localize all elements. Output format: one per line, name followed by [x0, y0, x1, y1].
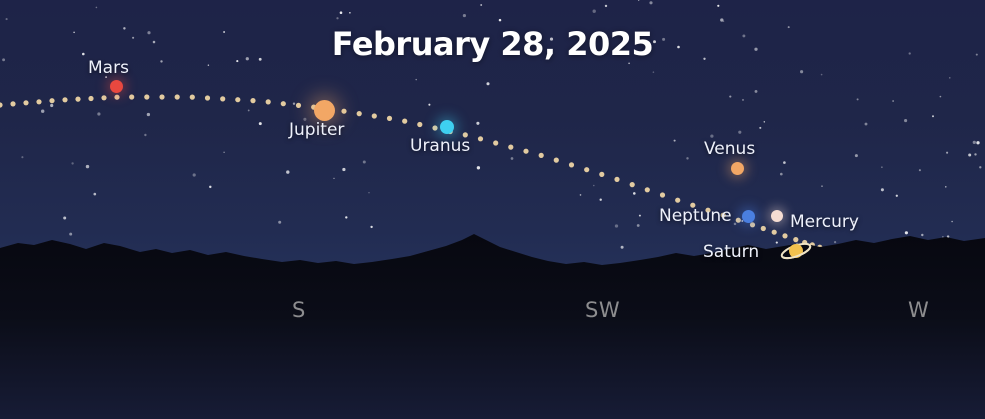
sky-map: February 28, 2025 MarsJupiterUranusVenus… — [0, 0, 985, 419]
compass-label-w: W — [908, 298, 929, 322]
compass-label-sw: SW — [585, 298, 620, 322]
compass-label-s: S — [292, 298, 306, 322]
compass-layer: SSWW — [0, 0, 985, 419]
